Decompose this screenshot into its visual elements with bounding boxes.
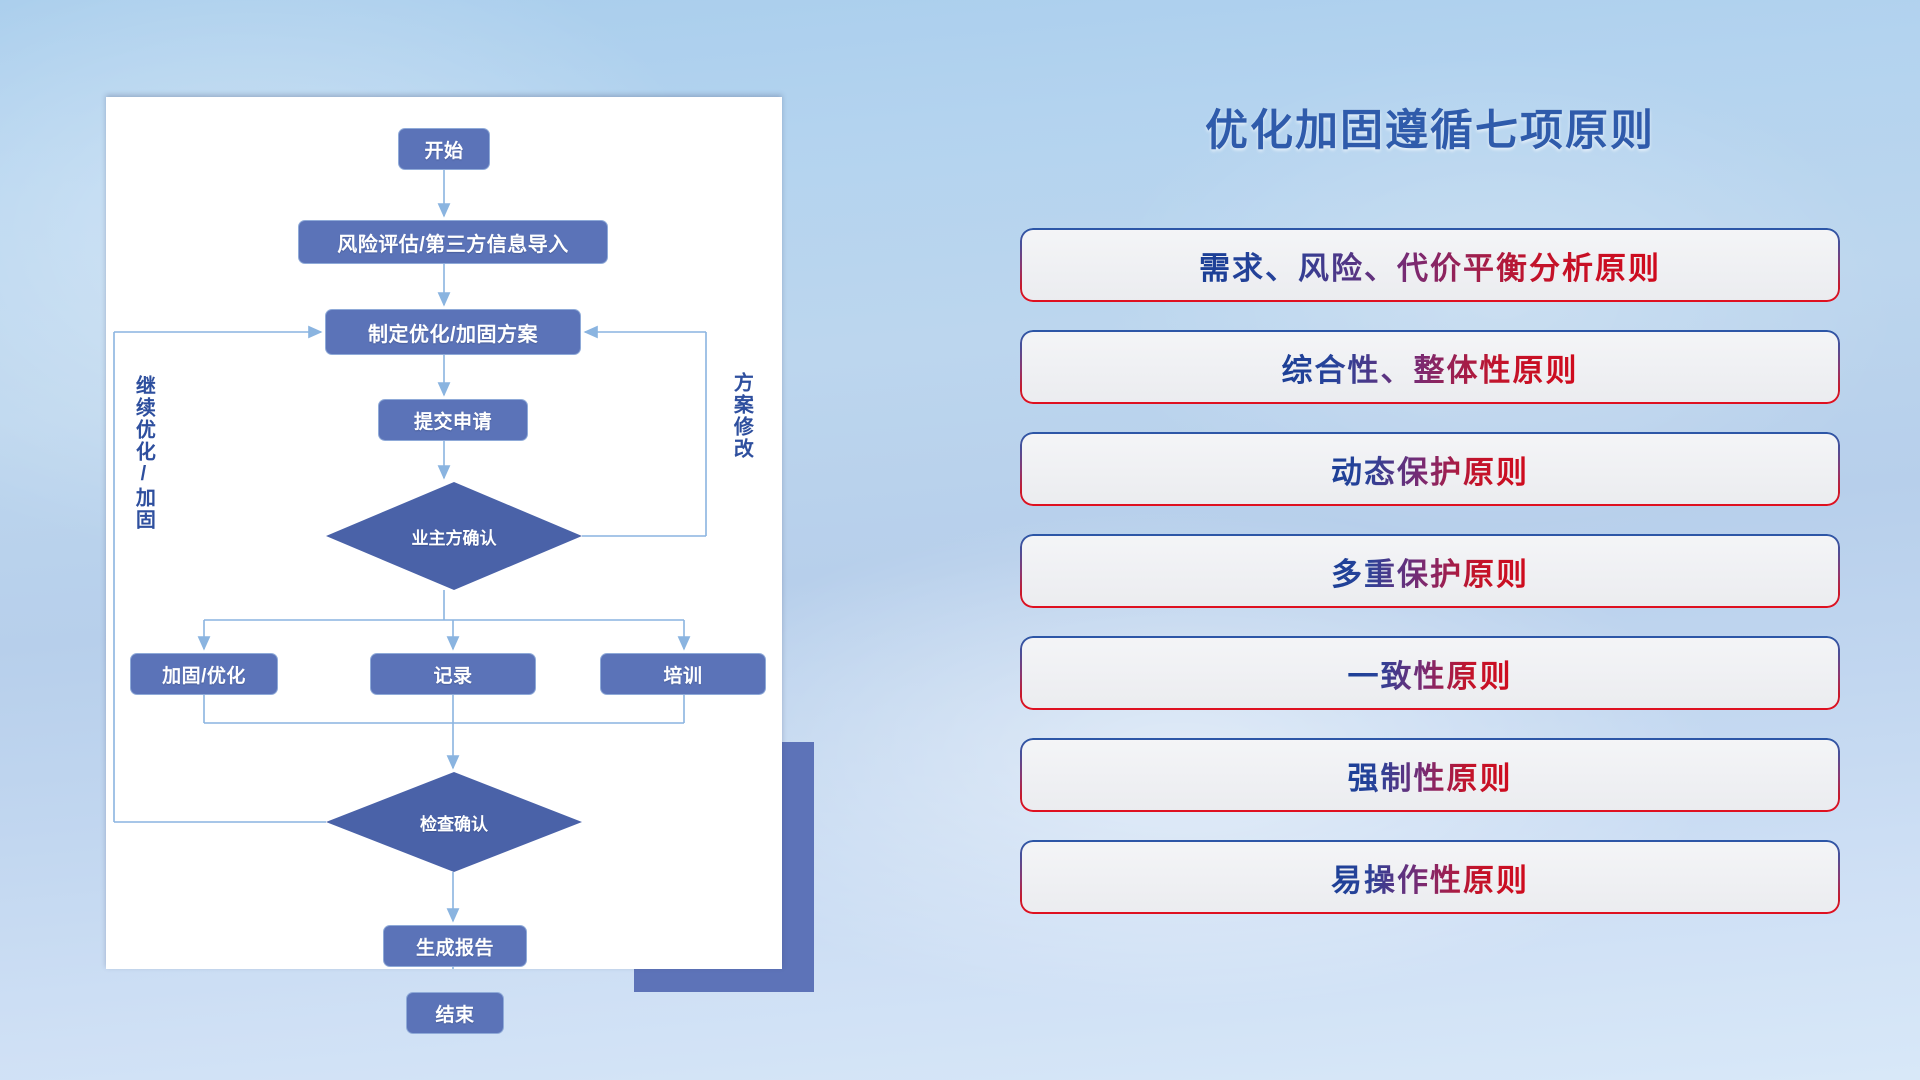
principle-item-1[interactable]: 需求、风险、代价平衡分析原则 <box>1020 228 1840 302</box>
slide-canvas: 开始 风险评估/第三方信息导入 制定优化/加固方案 提交申请 业主方确认 加固/… <box>0 0 1920 1080</box>
flowchart: 开始 风险评估/第三方信息导入 制定优化/加固方案 提交申请 业主方确认 加固/… <box>106 97 782 969</box>
principles-list: 需求、风险、代价平衡分析原则 综合性、整体性原则 动态保护原则 多重保护原则 一… <box>1020 228 1840 942</box>
flow-node-label: 提交申请 <box>414 407 492 434</box>
flow-node-label: 风险评估/第三方信息导入 <box>337 228 569 257</box>
page-title: 优化加固遵循七项原则 <box>1020 96 1840 158</box>
flow-node-label: 培训 <box>663 661 702 688</box>
flow-node-generate-report[interactable]: 生成报告 <box>383 925 527 967</box>
principle-item-6[interactable]: 强制性原则 <box>1020 738 1840 812</box>
principle-item-4[interactable]: 多重保护原则 <box>1020 534 1840 608</box>
principle-label: 一致性原则 <box>1348 651 1513 696</box>
flow-node-owner-confirm[interactable]: 业主方确认 <box>326 482 582 590</box>
flowchart-card: 开始 风险评估/第三方信息导入 制定优化/加固方案 提交申请 业主方确认 加固/… <box>106 97 782 969</box>
principle-label: 需求、风险、代价平衡分析原则 <box>1199 243 1661 288</box>
loop-label-continue-optimize: 继续优化/加固 <box>133 375 153 531</box>
flow-node-label: 开始 <box>424 136 463 163</box>
principle-label: 多重保护原则 <box>1331 549 1529 594</box>
principle-label: 综合性、整体性原则 <box>1282 345 1579 390</box>
principle-item-3[interactable]: 动态保护原则 <box>1020 432 1840 506</box>
flow-node-training[interactable]: 培训 <box>600 653 766 695</box>
flow-node-end[interactable]: 结束 <box>406 992 504 1034</box>
principle-label: 动态保护原则 <box>1331 447 1529 492</box>
flow-node-submit-application[interactable]: 提交申请 <box>378 399 528 441</box>
flow-node-label: 生成报告 <box>416 933 494 960</box>
flow-node-label: 结束 <box>435 1000 474 1027</box>
principle-item-7[interactable]: 易操作性原则 <box>1020 840 1840 914</box>
flow-node-record[interactable]: 记录 <box>370 653 536 695</box>
flow-node-label: 业主方确认 <box>412 524 497 549</box>
principle-item-5[interactable]: 一致性原则 <box>1020 636 1840 710</box>
principle-label: 强制性原则 <box>1348 753 1513 798</box>
principle-item-2[interactable]: 综合性、整体性原则 <box>1020 330 1840 404</box>
flow-node-inspection-confirm[interactable]: 检查确认 <box>326 772 582 872</box>
flow-node-label: 检查确认 <box>420 810 488 835</box>
flow-node-label: 记录 <box>433 661 472 688</box>
principles-panel: 优化加固遵循七项原则 需求、风险、代价平衡分析原则 综合性、整体性原则 动态保护… <box>1020 96 1840 996</box>
flow-node-risk-assessment[interactable]: 风险评估/第三方信息导入 <box>298 220 608 264</box>
loop-label-plan-revision: 方案修改 <box>731 372 751 460</box>
flow-node-start[interactable]: 开始 <box>398 128 490 170</box>
flow-node-reinforce-optimize[interactable]: 加固/优化 <box>130 653 278 695</box>
flow-node-make-plan[interactable]: 制定优化/加固方案 <box>325 309 581 355</box>
principle-label: 易操作性原则 <box>1331 855 1529 900</box>
flow-node-label: 制定优化/加固方案 <box>368 318 538 347</box>
flow-node-label: 加固/优化 <box>162 661 246 688</box>
